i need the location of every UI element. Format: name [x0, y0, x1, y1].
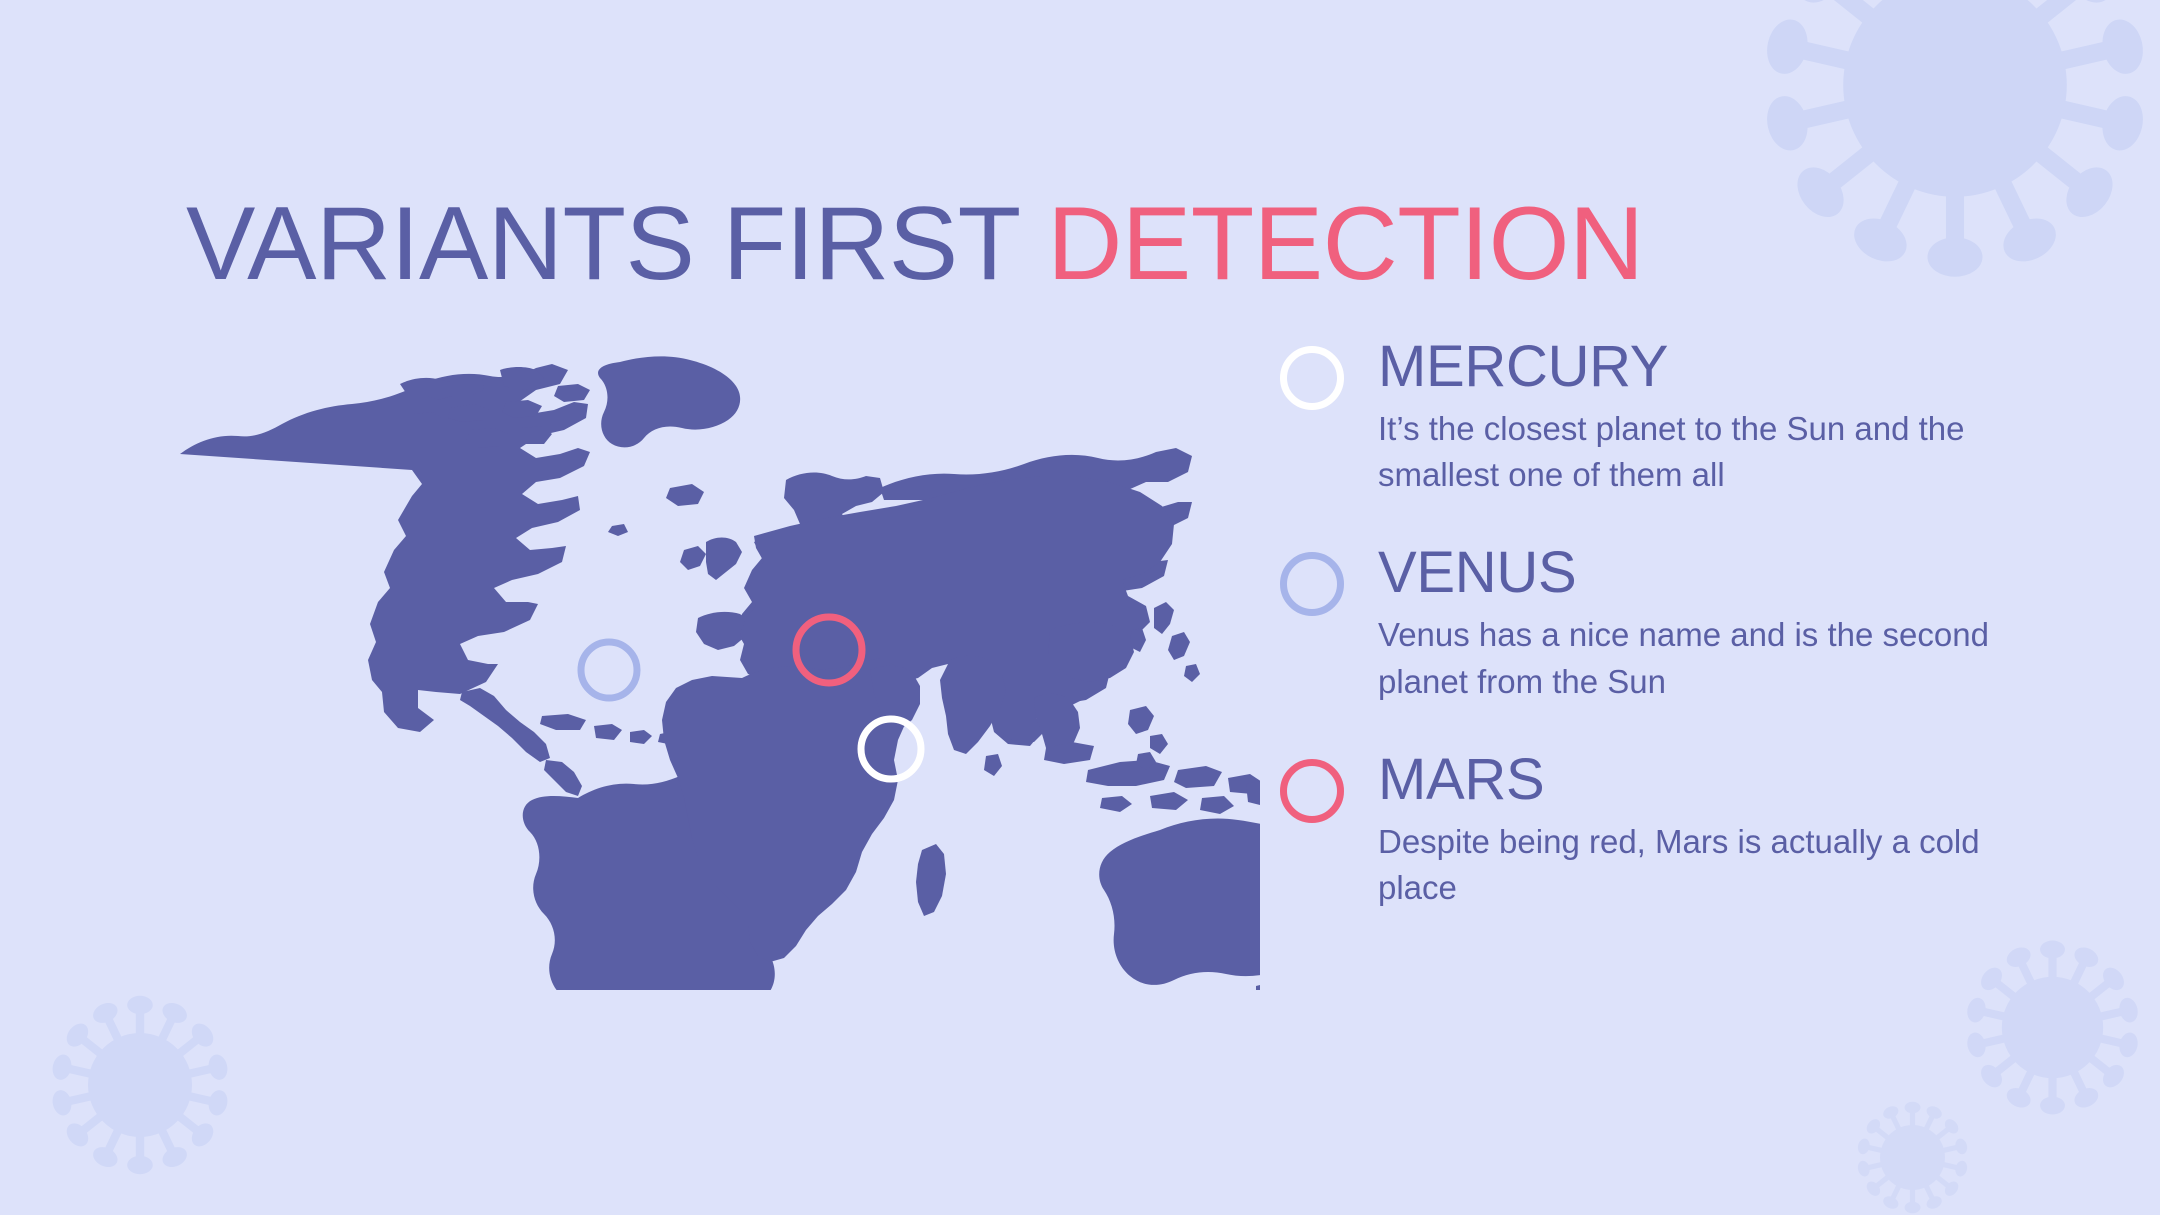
legend-description-mercury: It’s the closest planet to the Sun and t… — [1378, 406, 2002, 498]
legend-title-mars: MARS — [1378, 751, 2002, 809]
coronavirus-icon — [1740, 0, 2160, 300]
title-accent-text: DETECTION — [1047, 186, 1643, 302]
legend-item-venus[interactable]: VENUS Venus has a nice name and is the s… — [1262, 544, 2002, 704]
legend-title-venus: VENUS — [1378, 544, 2002, 602]
legend-title-mercury: MERCURY — [1378, 338, 2002, 396]
legend-item-mars[interactable]: MARS Despite being red, Mars is actually… — [1262, 751, 2002, 911]
legend-dot-mercury — [1280, 346, 1344, 410]
world-map — [150, 330, 1260, 990]
legend-list: MERCURY It’s the closest planet to the S… — [1262, 338, 2002, 911]
legend-description-venus: Venus has a nice name and is the second … — [1378, 612, 2002, 704]
legend-dot-venus — [1280, 552, 1344, 616]
coronavirus-icon — [1955, 930, 2150, 1125]
page-title: VARIANTS FIRST DETECTION — [186, 192, 1644, 296]
legend-item-mercury[interactable]: MERCURY It’s the closest planet to the S… — [1262, 338, 2002, 498]
slide-canvas: VARIANTS FIRST DETECTION — [0, 0, 2160, 1215]
coronavirus-icon — [40, 985, 240, 1185]
title-main-text: VARIANTS FIRST — [186, 186, 1047, 302]
legend-description-mars: Despite being red, Mars is actually a co… — [1378, 819, 2002, 911]
coronavirus-icon — [1850, 1095, 1975, 1215]
legend-dot-mars — [1280, 759, 1344, 823]
